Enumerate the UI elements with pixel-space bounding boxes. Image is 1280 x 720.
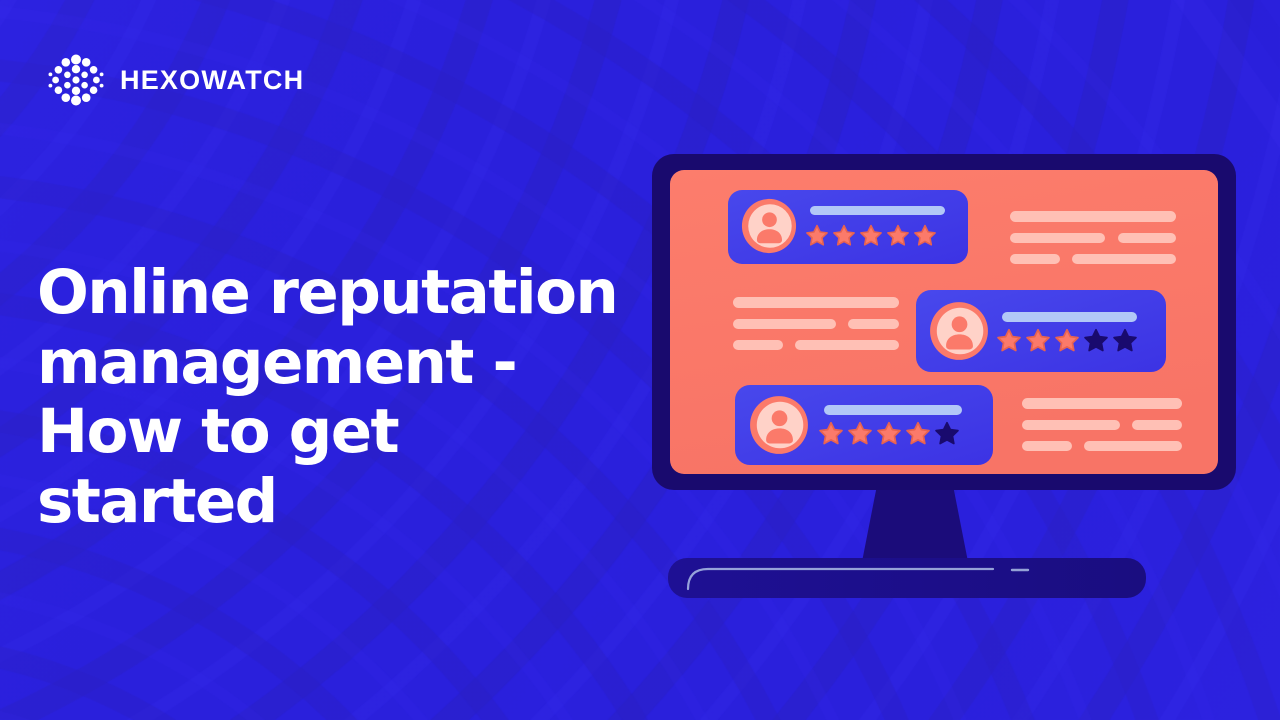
user-avatar-icon xyxy=(742,199,796,253)
user-avatar-icon xyxy=(750,396,808,454)
text-block-bottom-right xyxy=(1022,398,1182,451)
review-monitor-illustration xyxy=(640,140,1260,620)
review-card-1 xyxy=(728,190,968,264)
user-avatar-icon xyxy=(930,302,988,360)
brand-logo-lockup[interactable]: HEXOWATCH xyxy=(48,52,304,108)
card-title-bar xyxy=(810,206,945,215)
hexowatch-dot-ring-icon xyxy=(48,52,104,108)
card-title-bar xyxy=(1002,312,1137,322)
page-title: Online reputation management - How to ge… xyxy=(37,258,637,536)
review-card-3 xyxy=(735,385,993,465)
text-block-top-right xyxy=(1010,211,1176,264)
review-card-2 xyxy=(916,290,1166,372)
brand-wordmark: HEXOWATCH xyxy=(120,67,304,94)
card-title-bar xyxy=(824,405,962,415)
text-block-middle-left xyxy=(733,297,899,350)
